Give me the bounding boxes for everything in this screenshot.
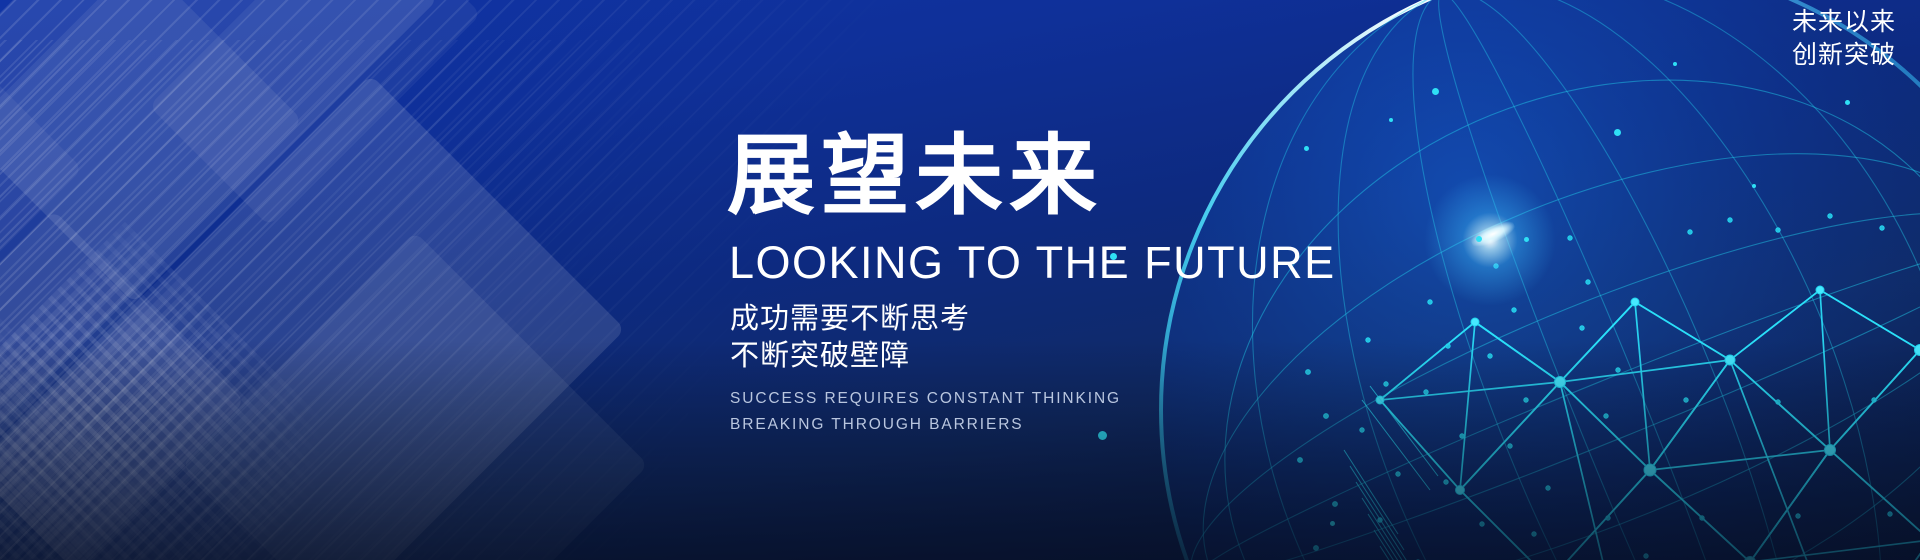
corner-note-line2: 创新突破 — [1792, 39, 1896, 72]
subtitle-english-line2: BREAKING THROUGH BARRIERS — [730, 412, 1427, 439]
page-title-english: LOOKING TO THE FUTURE — [729, 240, 1427, 285]
subtitle-chinese-line2: 不断突破壁障 — [730, 338, 1427, 375]
corner-note-line1: 未来以来 — [1792, 6, 1896, 39]
headline-block: 展望未来 LOOKING TO THE FUTURE 成功需要不断思考 不断突破… — [727, 132, 1427, 439]
subtitle-chinese-line1: 成功需要不断思考 — [730, 301, 1427, 338]
decorative-slab — [149, 0, 481, 226]
subtitle-english-line1: SUCCESS REQUIRES CONSTANT THINKING — [730, 386, 1427, 413]
decorative-slab — [0, 27, 83, 352]
decorative-slab — [0, 0, 438, 303]
page-title: 展望未来 — [727, 132, 1427, 220]
subtitle-chinese: 成功需要不断思考 不断突破壁障 — [730, 301, 1427, 375]
promo-banner: 未来以来 创新突破 展望未来 LOOKING TO THE FUTURE 成功需… — [0, 0, 1920, 560]
subtitle-english: SUCCESS REQUIRES CONSTANT THINKING BREAK… — [730, 386, 1427, 439]
corner-note: 未来以来 创新突破 — [1792, 6, 1896, 72]
